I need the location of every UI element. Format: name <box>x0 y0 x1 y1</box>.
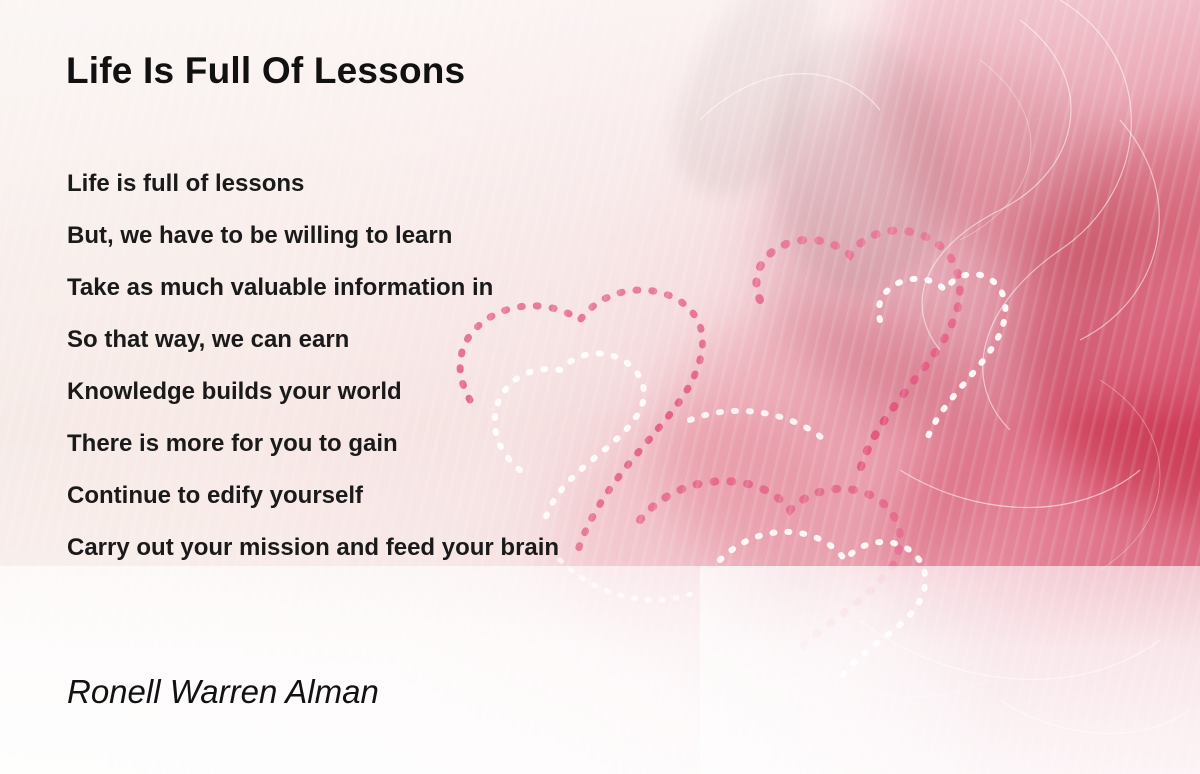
poem-line: Knowledge builds your world <box>67 366 827 418</box>
poem-line: Life is full of lessons <box>67 158 827 210</box>
poem-line: But, we have to be willing to learn <box>67 210 827 262</box>
poem-line: Take as much valuable information in <box>67 262 827 314</box>
poem-line: So that way, we can earn <box>67 314 827 366</box>
poem-line: Carry out your mission and feed your bra… <box>67 522 827 574</box>
poem-line: Continue to edify yourself <box>67 470 827 522</box>
author-name: Ronell Warren Alman <box>67 673 379 711</box>
poem-body: Life is full of lessons But, we have to … <box>67 158 827 574</box>
background-lower-right-fade <box>700 566 1200 774</box>
poem-line: There is more for you to gain <box>67 418 827 470</box>
page-title: Life Is Full Of Lessons <box>66 50 465 92</box>
poem-image-card: Life Is Full Of Lessons Life is full of … <box>0 0 1200 774</box>
